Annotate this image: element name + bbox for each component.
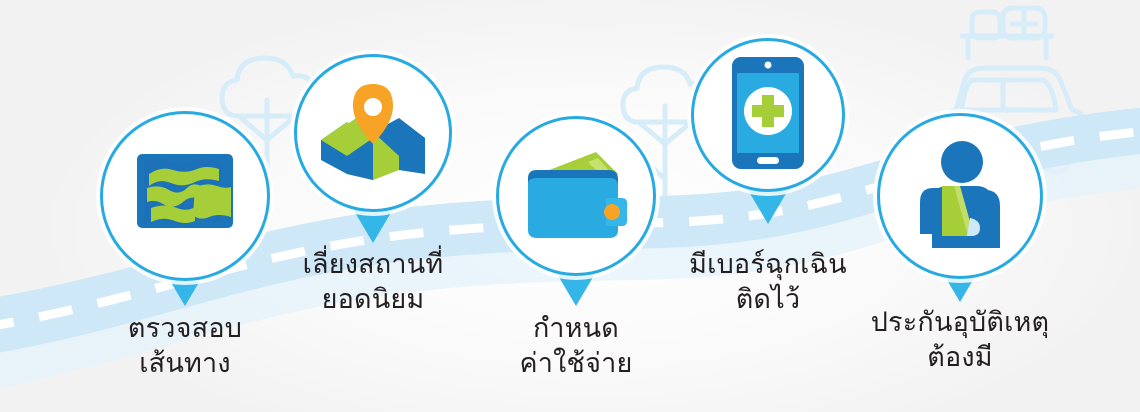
map-with-location-pin-icon	[317, 82, 429, 184]
pin-circle[interactable]	[294, 54, 452, 212]
pin-circle[interactable]	[877, 113, 1043, 279]
pin-label: ตรวจสอบ เส้นทาง	[0, 311, 370, 381]
infographic-canvas: ตรวจสอบ เส้นทาง	[0, 0, 1140, 412]
pin-label-line: เส้นทาง	[0, 346, 370, 381]
pin-group: ตรวจสอบ เส้นทาง	[0, 0, 1140, 412]
injured-person-with-arm-sling-icon	[912, 140, 1008, 252]
pin-label-line: ต้องมี	[780, 340, 1140, 375]
pin-label-line: ประกันอุบัติเหตุ	[780, 305, 1140, 340]
folded-map-icon	[133, 148, 237, 244]
pin-label: ประกันอุบัติเหตุ ต้องมี	[780, 305, 1140, 375]
pin-label-line: เลี่ยงสถานที่	[193, 247, 553, 282]
pin-label: กำหนด ค่าใช้จ่าย	[396, 311, 756, 381]
pin-label: เลี่ยงสถานที่ ยอดนิยม	[193, 247, 553, 317]
pin-circle[interactable]	[691, 38, 845, 192]
pin-label-line: ค่าใช้จ่าย	[396, 346, 756, 381]
pin-label-line: มีเบอร์ฉุกเฉิน	[588, 247, 948, 282]
phone-with-medical-cross-icon	[732, 57, 804, 173]
wallet-with-cash-icon	[522, 148, 630, 244]
